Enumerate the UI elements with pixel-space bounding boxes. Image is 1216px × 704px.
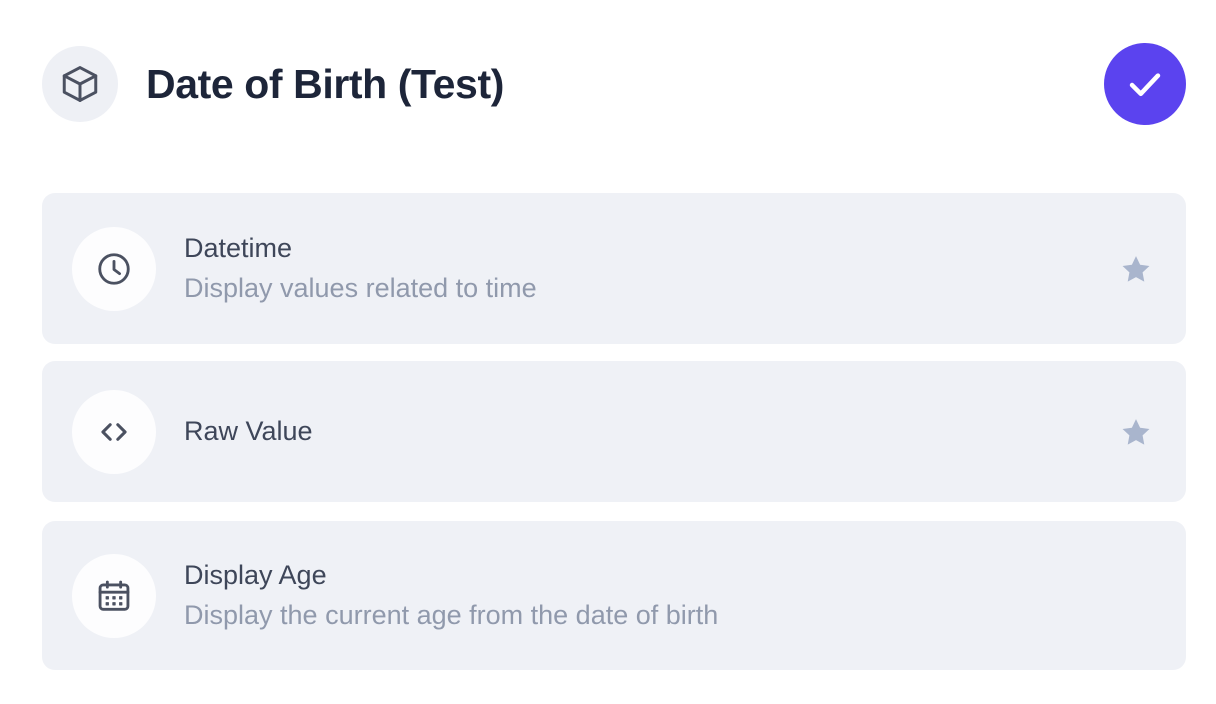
- panel-header: Date of Birth (Test): [42, 36, 1186, 132]
- list-item-title: Display Age: [184, 559, 718, 592]
- list-item-datetime[interactable]: Datetime Display values related to time: [42, 193, 1186, 344]
- list-item-title: Datetime: [184, 232, 537, 265]
- check-icon: [1124, 63, 1166, 105]
- star-filled-icon[interactable]: [1116, 412, 1156, 452]
- page-title: Date of Birth (Test): [146, 64, 504, 105]
- list-item-text: Raw Value: [184, 415, 313, 448]
- clock-icon: [72, 227, 156, 311]
- code-brackets-icon: [72, 390, 156, 474]
- field-display-options-panel: Date of Birth (Test) Datetime Display v: [0, 0, 1216, 704]
- cube-icon: [42, 46, 118, 122]
- list-item-text: Datetime Display values related to time: [184, 232, 537, 305]
- list-item-subtitle: Display values related to time: [184, 272, 537, 305]
- list-item-raw-value[interactable]: Raw Value: [42, 361, 1186, 502]
- calendar-icon: [72, 554, 156, 638]
- list-item-display-age[interactable]: Display Age Display the current age from…: [42, 521, 1186, 670]
- display-options-list: Datetime Display values related to time …: [42, 193, 1186, 670]
- list-item-text: Display Age Display the current age from…: [184, 559, 718, 632]
- list-item-title: Raw Value: [184, 415, 313, 448]
- list-item-subtitle: Display the current age from the date of…: [184, 599, 718, 632]
- star-filled-icon[interactable]: [1116, 249, 1156, 289]
- confirm-button[interactable]: [1104, 43, 1186, 125]
